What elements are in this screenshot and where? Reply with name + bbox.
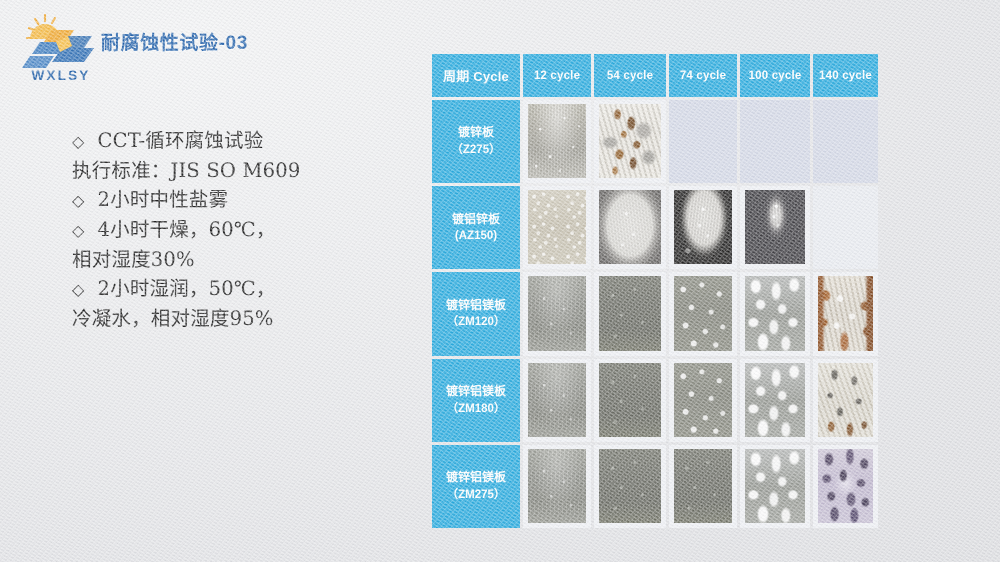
sample-plate-image bbox=[818, 449, 873, 523]
sample-plate-image bbox=[745, 190, 805, 264]
condition-text: 4小时干燥，60℃， bbox=[98, 218, 276, 241]
diamond-bullet-icon: ◇ bbox=[72, 221, 85, 240]
sample-cell bbox=[669, 272, 737, 355]
sample-cell bbox=[740, 100, 810, 183]
sample-cell bbox=[594, 445, 666, 528]
sun-over-parallelograms-logo-icon bbox=[22, 12, 100, 70]
condition-line: 冷凝水，相对湿度95% bbox=[72, 304, 402, 334]
row-label-code: （ZM180） bbox=[447, 401, 506, 419]
sample-plate-image bbox=[599, 190, 661, 264]
sample-cell bbox=[669, 100, 737, 183]
sample-cell bbox=[813, 100, 878, 183]
slide-canvas: WXLSY 耐腐蚀性试验-03 ◇CCT-循环腐蚀试验执行标准：JIS SO M… bbox=[0, 0, 1000, 562]
sample-cell bbox=[523, 272, 591, 355]
sample-plate-image bbox=[818, 363, 873, 437]
row-label-2: 镀锌铝镁板（ZM120） bbox=[432, 272, 520, 355]
table-row: 镀锌板（Z275） bbox=[432, 100, 878, 183]
condition-text: 2小时湿润，50℃， bbox=[98, 277, 276, 300]
condition-line: ◇2小时湿润，50℃， bbox=[72, 274, 402, 304]
row-label-0: 镀锌板（Z275） bbox=[432, 100, 520, 183]
table-header-cell-0: 周期 Cycle bbox=[432, 54, 520, 97]
sample-cell bbox=[594, 359, 666, 442]
sample-plate-image bbox=[599, 363, 661, 437]
diamond-bullet-icon: ◇ bbox=[72, 132, 85, 151]
row-label-4: 镀锌铝镁板（ZM275） bbox=[432, 445, 520, 528]
sample-cell bbox=[669, 445, 737, 528]
sample-cell bbox=[523, 100, 591, 183]
table-header-row: 周期 Cycle12 cycle54 cycle74 cycle100 cycl… bbox=[432, 54, 878, 97]
row-label-code: （ZM120） bbox=[447, 314, 506, 332]
logo-wordmark: WXLSY bbox=[22, 68, 100, 83]
table-row: 镀锌铝镁板（ZM180） bbox=[432, 359, 878, 442]
row-label-name: 镀锌铝镁板 bbox=[446, 296, 506, 315]
condition-line: 相对湿度30% bbox=[72, 245, 402, 275]
sample-cell bbox=[669, 359, 737, 442]
condition-line: 执行标准：JIS SO M609 bbox=[72, 156, 402, 186]
sample-plate-image bbox=[745, 363, 805, 437]
company-logo: WXLSY bbox=[22, 12, 100, 90]
sample-plate-image bbox=[745, 276, 805, 350]
page-title: 耐腐蚀性试验-03 bbox=[101, 28, 248, 55]
test-conditions-text: ◇CCT-循环腐蚀试验执行标准：JIS SO M609◇2小时中性盐雾◇4小时干… bbox=[72, 126, 402, 333]
table-row: 镀铝锌板(AZ150) bbox=[432, 186, 878, 269]
sample-plate-image bbox=[528, 276, 586, 350]
row-label-code: (AZ150) bbox=[455, 228, 497, 246]
sample-cell bbox=[594, 186, 666, 269]
sample-cell bbox=[594, 272, 666, 355]
condition-line: ◇CCT-循环腐蚀试验 bbox=[72, 126, 402, 156]
sample-plate-image bbox=[599, 276, 661, 350]
condition-text: 执行标准：JIS SO M609 bbox=[72, 159, 301, 182]
table-row: 镀锌铝镁板（ZM275） bbox=[432, 445, 878, 528]
condition-text: 冷凝水，相对湿度95% bbox=[72, 307, 274, 330]
sample-plate-image bbox=[528, 449, 586, 523]
diamond-bullet-icon: ◇ bbox=[72, 280, 85, 299]
condition-text: 相对湿度30% bbox=[72, 248, 195, 271]
corrosion-results-table: 周期 Cycle12 cycle54 cycle74 cycle100 cycl… bbox=[432, 54, 878, 528]
sample-plate-image bbox=[599, 104, 661, 178]
condition-line: ◇4小时干燥，60℃， bbox=[72, 215, 402, 245]
row-label-code: （ZM275） bbox=[447, 487, 506, 505]
row-label-1: 镀铝锌板(AZ150) bbox=[432, 186, 520, 269]
sample-plate-image bbox=[745, 449, 805, 523]
sample-plate-image bbox=[528, 363, 586, 437]
table-row: 镀锌铝镁板（ZM120） bbox=[432, 272, 878, 355]
row-label-name: 镀锌板 bbox=[458, 123, 494, 142]
sample-plate-image bbox=[528, 190, 586, 264]
table-header-cell-4: 100 cycle bbox=[740, 54, 810, 97]
diamond-bullet-icon: ◇ bbox=[72, 191, 85, 210]
sample-cell bbox=[523, 186, 591, 269]
table-header-cell-2: 54 cycle bbox=[594, 54, 666, 97]
sample-cell bbox=[740, 186, 810, 269]
condition-text: CCT-循环腐蚀试验 bbox=[98, 129, 264, 152]
sample-plate-image bbox=[674, 449, 732, 523]
table-header-cell-3: 74 cycle bbox=[669, 54, 737, 97]
sample-cell bbox=[523, 445, 591, 528]
sample-cell bbox=[813, 359, 878, 442]
table-header-cell-5: 140 cycle bbox=[813, 54, 878, 97]
row-label-name: 镀锌铝镁板 bbox=[446, 382, 506, 401]
condition-text: 2小时中性盐雾 bbox=[98, 188, 229, 211]
sample-cell bbox=[813, 186, 878, 269]
sample-plate-image bbox=[818, 276, 873, 350]
row-label-name: 镀铝锌板 bbox=[452, 210, 500, 229]
sample-plate-image bbox=[674, 190, 732, 264]
sample-plate-image bbox=[674, 276, 732, 350]
sample-cell bbox=[594, 100, 666, 183]
sample-cell bbox=[813, 272, 878, 355]
condition-line: ◇2小时中性盐雾 bbox=[72, 185, 402, 215]
table-header-cell-1: 12 cycle bbox=[523, 54, 591, 97]
sample-plate-image bbox=[674, 363, 732, 437]
row-label-3: 镀锌铝镁板（ZM180） bbox=[432, 359, 520, 442]
sample-cell bbox=[523, 359, 591, 442]
sample-cell bbox=[740, 272, 810, 355]
sample-cell bbox=[740, 359, 810, 442]
sample-cell bbox=[740, 445, 810, 528]
sample-cell bbox=[669, 186, 737, 269]
row-label-code: （Z275） bbox=[451, 142, 500, 160]
sample-plate-image bbox=[528, 104, 586, 178]
row-label-name: 镀锌铝镁板 bbox=[446, 468, 506, 487]
sample-plate-image bbox=[599, 449, 661, 523]
sample-cell bbox=[813, 445, 878, 528]
